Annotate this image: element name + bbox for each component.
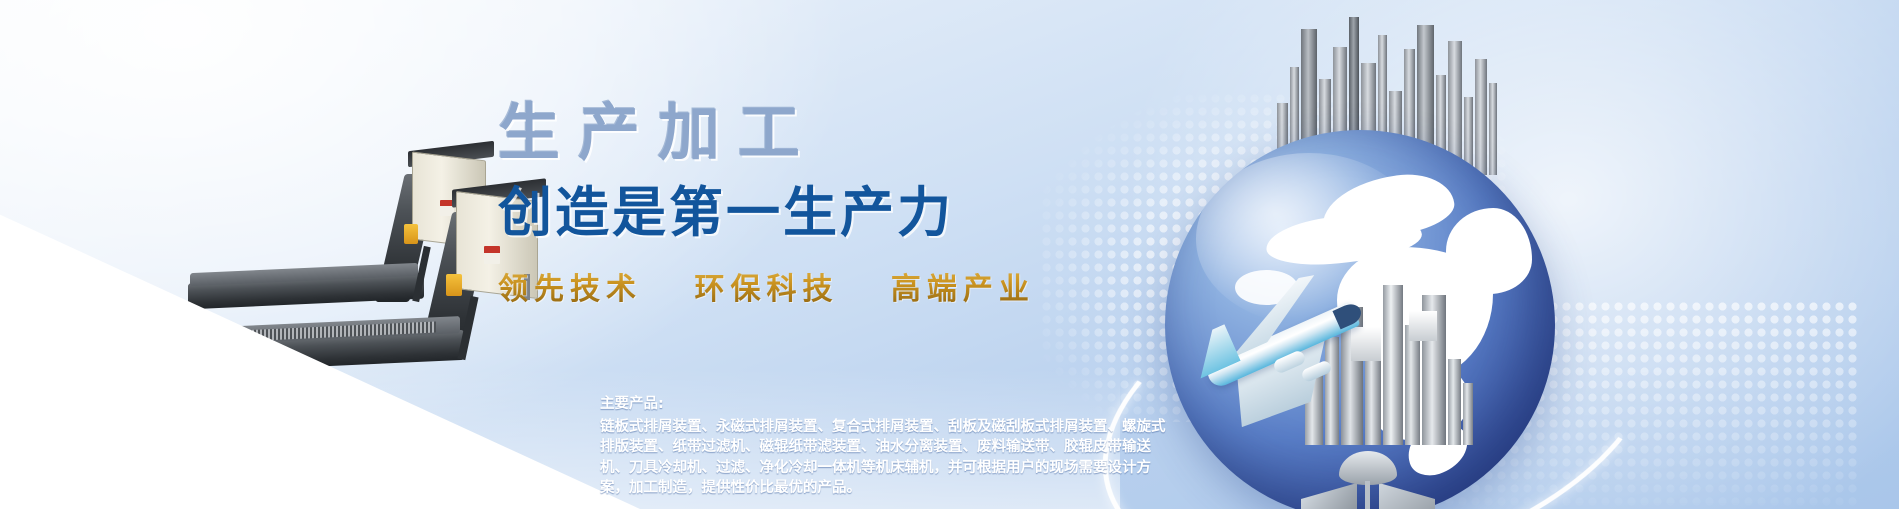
headline-main: 生产加工 [498,82,818,172]
tagline-group: 领先技术 环保科技 高端产业 [498,264,1035,308]
satellite-mast [1365,481,1370,509]
product-description: 主要产品: 链板式排屑装置、永磁式排屑装置、复合式排屑装置、刮板及磁刮板式排屑装… [600,394,1175,499]
chip-conveyor-machine-front [188,196,548,396]
control-box [446,274,462,296]
tagline-item-2: 环保科技 [694,272,838,307]
promotional-banner: 生产加工 创造是第一生产力 领先技术 环保科技 高端产业 主要产品: 链板式排屑… [0,0,1899,509]
warning-decal [484,246,500,264]
satellite-dish [1339,451,1397,485]
globe-graphic [1105,105,1665,509]
satellite-icon [1295,435,1445,509]
headline-sub: 创造是第一生产力 [498,168,954,247]
product-description-body: 链板式排屑装置、永磁式排屑装置、复合式排屑装置、刮板及磁刮板式排屑装置、螺旋式排… [600,419,1166,497]
tagline-item-1: 领先技术 [498,272,642,307]
satellite-panel [1301,483,1357,509]
product-description-lead: 主要产品: [600,394,1175,415]
tagline-item-3: 高端产业 [891,272,1035,307]
satellite-panel [1379,483,1435,509]
